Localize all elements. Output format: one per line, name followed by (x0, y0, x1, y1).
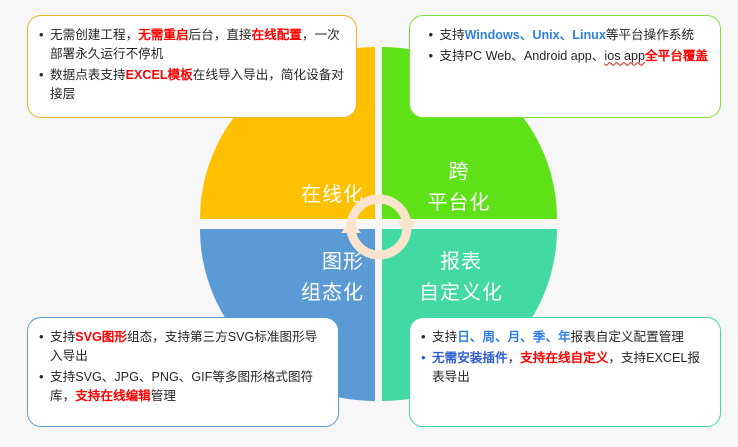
text-run: 在线配置 (252, 28, 302, 42)
text-run: 支持 (50, 330, 75, 344)
quadrant-report-label-line-2: 自定义化 (396, 278, 526, 309)
text-run: 日、周、月、季、年 (457, 330, 570, 344)
text-run: 管理 (151, 389, 176, 403)
text-run: Windows、Unix、Linux (465, 28, 606, 42)
callout-platform: 支持Windows、Unix、Linux等平台操作系统支持PC Web、Andr… (409, 15, 721, 118)
quadrant-graphic-label-line-2: 组态化 (301, 278, 364, 309)
text-run: 支持PC Web、Android app、 (439, 49, 604, 63)
callout-graphic-item: 支持SVG、JPG、PNG、GIF等多图形格式图符库，支持在线编辑管理 (38, 368, 326, 406)
text-run: 支持 (432, 330, 457, 344)
text-run: 支持在线编辑 (75, 389, 151, 403)
callout-report-item: 无需安装插件，支持在线自定义，支持EXCEL报表导出 (420, 349, 708, 387)
quadrant-graphic-label: 图形 组态化 (301, 247, 364, 309)
callout-graphic-list: 支持SVG图形组态，支持第三方SVG标准图形导入导出支持SVG、JPG、PNG、… (38, 328, 326, 406)
callout-online: 无需创建工程，无需重启后台，直接在线配置，一次部署永久运行不停机数据点表支持EX… (27, 15, 357, 118)
text-run: 无需创建工程， (50, 28, 138, 42)
text-run: 支持在线自定义 (520, 351, 608, 365)
callout-report: 支持日、周、月、季、年报表自定义配置管理无需安装插件，支持在线自定义，支持EXC… (409, 317, 721, 427)
callout-report-item: 支持日、周、月、季、年报表自定义配置管理 (420, 328, 708, 347)
text-run: 后台，直接 (189, 28, 252, 42)
callout-platform-item: 支持Windows、Unix、Linux等平台操作系统 (427, 26, 708, 45)
quadrant-platform-label: 跨 平台化 (404, 157, 514, 219)
quadrant-graphic-label-line-1: 图形 (301, 247, 364, 278)
quadrant-platform-label-line-1: 跨 (404, 157, 514, 188)
callout-online-item: 数据点表支持EXCEL模板在线导入导出，简化设备对接层 (38, 66, 344, 104)
callout-online-list: 无需创建工程，无需重启后台，直接在线配置，一次部署永久运行不停机数据点表支持EX… (38, 26, 344, 104)
callout-platform-list: 支持Windows、Unix、Linux等平台操作系统支持PC Web、Andr… (427, 26, 708, 68)
quadrant-platform-label-line-2: 平台化 (404, 188, 514, 219)
text-run: 全平台覆盖 (645, 49, 708, 63)
text-run: EXCEL模板 (126, 68, 193, 82)
text-run: ， (508, 351, 521, 365)
text-run: SVG图形 (75, 330, 127, 344)
callout-platform-item: 支持PC Web、Android app、ios app全平台覆盖 (427, 47, 708, 66)
text-run: 数据点表支持 (50, 68, 126, 82)
callout-online-item: 无需创建工程，无需重启后台，直接在线配置，一次部署永久运行不停机 (38, 26, 344, 64)
quadrant-report-label: 报表 自定义化 (396, 247, 526, 309)
text-run: 支持 (439, 28, 464, 42)
text-run: 无需重启 (138, 28, 188, 42)
quadrant-report-label-line-1: 报表 (396, 247, 526, 278)
quadrant-online-label: 在线化 (301, 180, 364, 211)
text-run: 等平台操作系统 (606, 28, 694, 42)
quadrant-online-label-line-1: 在线化 (301, 180, 364, 211)
callout-report-list: 支持日、周、月、季、年报表自定义配置管理无需安装插件，支持在线自定义，支持EXC… (420, 328, 708, 387)
text-run: 无需安装插件 (432, 351, 508, 365)
callout-graphic-item: 支持SVG图形组态，支持第三方SVG标准图形导入导出 (38, 328, 326, 366)
text-run: 报表自定义配置管理 (571, 330, 684, 344)
callout-graphic: 支持SVG图形组态，支持第三方SVG标准图形导入导出支持SVG、JPG、PNG、… (27, 317, 339, 427)
text-run: ios app (604, 49, 645, 63)
